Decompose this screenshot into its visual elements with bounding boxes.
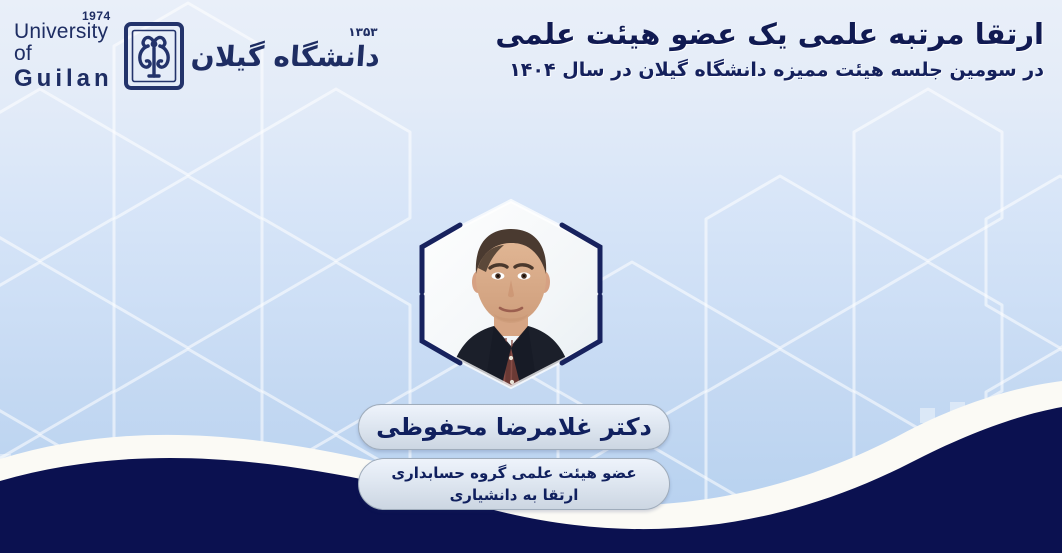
- header-text-block: ارتقا مرتبه علمی یک عضو هیئت علمی در سوم…: [484, 16, 1044, 84]
- logo-english-year: 1974: [82, 10, 111, 23]
- guilan-emblem-icon: [123, 21, 185, 91]
- portrait-photo: [408, 196, 614, 392]
- person-role-line1: عضو هیئت علمی گروه حسابداری: [391, 462, 636, 485]
- logo-persian-year: ۱۳۵۳: [348, 25, 377, 39]
- guilan-university-logo: 1974 University of Guilan ۱۳۵۳: [14, 10, 334, 102]
- logo-persian-text: ۱۳۵۳ دانشگاه گیلان: [191, 21, 380, 91]
- page-subtitle: در سومین جلسه هیئت ممیزه دانشگاه گیلان د…: [484, 58, 1044, 84]
- logo-english-text: 1974 University of Guilan: [14, 21, 117, 91]
- announcement-poster: 1974 University of Guilan ۱۳۵۳: [0, 0, 1062, 553]
- person-name: دکتر غلامرضا محفوظی: [376, 413, 652, 441]
- person-role-badge: عضو هیئت علمی گروه حسابداری ارتقا به دان…: [358, 458, 670, 510]
- logo-english-line1: University of: [14, 21, 113, 65]
- logo-persian-name: دانشگاه گیلان: [190, 40, 381, 73]
- person-role-line2: ارتقا به دانشیاری: [450, 484, 579, 507]
- logo-english-line2: Guilan: [14, 66, 113, 91]
- person-name-badge: دکتر غلامرضا محفوظی: [358, 404, 670, 450]
- page-title: ارتقا مرتبه علمی یک عضو هیئت علمی: [484, 16, 1044, 52]
